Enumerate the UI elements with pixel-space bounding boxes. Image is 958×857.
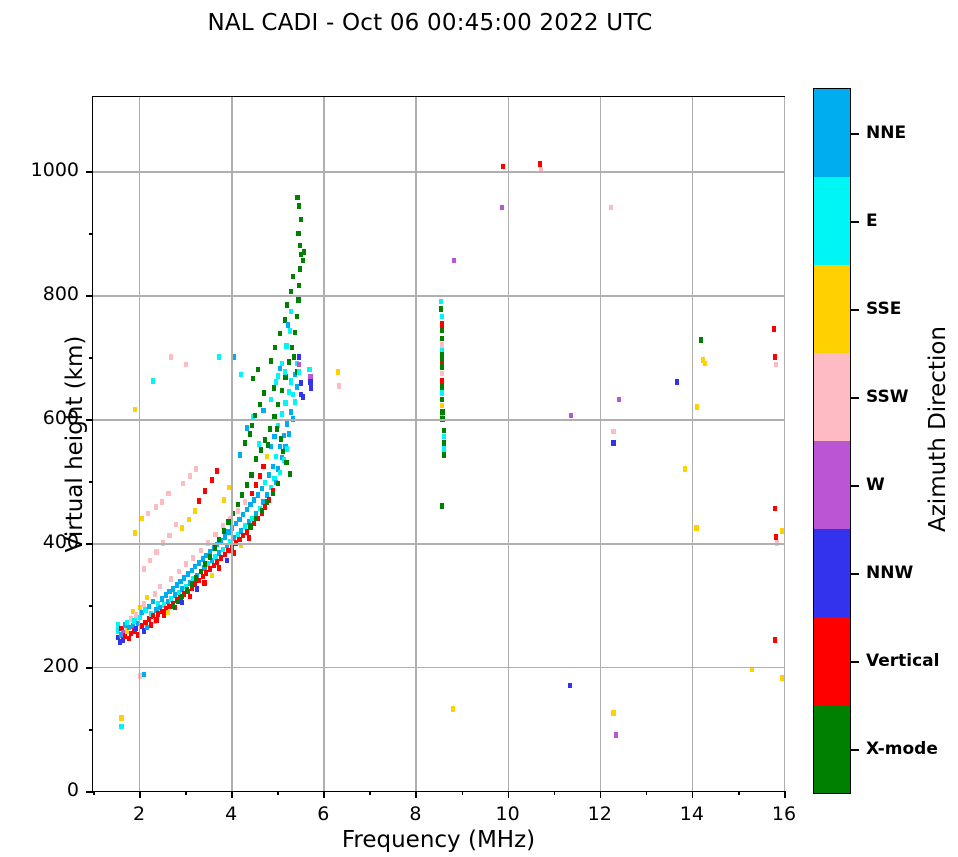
data-point (285, 446, 289, 452)
data-point (254, 516, 258, 522)
data-point (222, 528, 226, 534)
data-point (440, 503, 444, 509)
data-point (307, 367, 311, 373)
data-point (440, 390, 444, 396)
data-point (210, 477, 214, 483)
data-point (133, 407, 137, 413)
data-point (250, 423, 254, 429)
data-point (213, 545, 217, 551)
y-axis-tick (86, 543, 93, 545)
data-point (440, 314, 444, 320)
data-point (248, 431, 252, 437)
ionogram-figure: NAL CADI - Oct 06 00:45:00 2022 UTC Virt… (0, 0, 958, 857)
x-axis-tick (600, 791, 602, 798)
data-point (290, 345, 294, 351)
data-point (695, 404, 699, 410)
colorbar-label-nnw: NNW (866, 563, 913, 583)
y-axis-tick-label: 0 (0, 779, 79, 801)
data-point (271, 491, 275, 497)
data-point (265, 454, 269, 460)
data-point (292, 354, 296, 360)
data-point (272, 385, 276, 391)
data-point (286, 322, 290, 328)
data-point (166, 491, 170, 497)
x-axis-tick (231, 791, 233, 798)
data-point (215, 468, 219, 474)
data-point (538, 161, 542, 167)
colorbar-tick (850, 485, 859, 487)
data-point (272, 434, 276, 440)
data-point (252, 521, 256, 527)
gridline-horizontal (93, 171, 784, 172)
data-point (199, 569, 203, 575)
data-point (184, 561, 188, 567)
y-axis-tick (86, 791, 93, 793)
colorbar-tick (850, 573, 859, 575)
x-axis-label: Frequency (MHz) (93, 827, 784, 853)
gridline-vertical (415, 97, 416, 791)
data-point (694, 525, 698, 531)
x-axis-tick-label: 4 (201, 803, 261, 825)
data-point (240, 492, 244, 498)
colorbar-segment-nne (814, 89, 850, 177)
data-point (280, 411, 284, 417)
data-point (288, 328, 292, 334)
data-point (247, 535, 251, 541)
data-point (253, 413, 257, 419)
data-point (273, 345, 277, 351)
data-point (177, 569, 181, 575)
y-axis-minor-tick (89, 605, 93, 607)
data-point (267, 472, 271, 478)
data-point (256, 367, 260, 373)
colorbar-tick (850, 221, 859, 223)
data-point (261, 408, 265, 414)
data-point (280, 361, 284, 367)
data-point (675, 379, 679, 385)
data-point (297, 362, 301, 368)
x-axis-tick-label: 2 (109, 803, 169, 825)
x-axis-minor-tick (738, 791, 740, 795)
y-axis-minor-tick (89, 729, 93, 731)
data-point (301, 394, 305, 400)
data-point (276, 481, 280, 487)
data-point (154, 504, 158, 510)
gridline-vertical (323, 97, 324, 791)
data-point (299, 380, 303, 386)
data-point (291, 392, 295, 398)
data-point (440, 342, 444, 348)
data-point (336, 369, 340, 375)
data-point (169, 576, 173, 582)
data-point (289, 379, 293, 385)
colorbar-title: Azimuth Direction (925, 326, 951, 532)
data-point (269, 358, 273, 364)
colorbar-segment-e (814, 177, 850, 265)
y-axis-tick (86, 667, 93, 669)
gridline-horizontal (93, 419, 784, 420)
y-axis-tick-label: 1000 (0, 159, 79, 181)
gridline-vertical (231, 97, 232, 791)
data-point (188, 594, 192, 600)
data-point (611, 710, 615, 716)
colorbar-tick (850, 397, 859, 399)
data-point (289, 409, 293, 415)
data-point (226, 519, 230, 525)
x-axis-minor-tick (554, 791, 556, 795)
data-point (151, 378, 155, 384)
data-point (202, 580, 206, 586)
gridline-vertical (600, 97, 601, 791)
y-axis-tick (86, 171, 93, 173)
data-point (190, 581, 194, 587)
chart-title: NAL CADI - Oct 06 00:45:00 2022 UTC (0, 10, 860, 36)
data-point (167, 533, 171, 539)
gridline-vertical (784, 97, 785, 791)
colorbar-segment-sse (814, 265, 850, 353)
data-point (171, 604, 175, 610)
x-axis-tick (139, 791, 141, 798)
x-axis-minor-tick (369, 791, 371, 795)
y-axis-tick-label: 800 (0, 283, 79, 305)
data-point (308, 379, 312, 385)
data-point (442, 446, 446, 452)
data-point (151, 599, 155, 605)
data-point (287, 431, 291, 437)
data-point (439, 306, 443, 312)
data-point (773, 637, 777, 643)
data-point (283, 369, 287, 375)
x-axis-tick (692, 791, 694, 798)
data-point (299, 217, 303, 223)
data-point (296, 297, 300, 303)
data-point (293, 399, 297, 405)
y-axis-tick-label: 200 (0, 655, 79, 677)
data-point (119, 715, 123, 721)
colorbar-segment-w (814, 441, 850, 529)
data-point (614, 732, 618, 738)
data-point (276, 373, 280, 379)
data-point (133, 530, 137, 536)
data-point (440, 371, 444, 377)
data-point (452, 258, 456, 264)
data-point (239, 372, 243, 378)
data-point (147, 604, 151, 610)
data-point (259, 447, 263, 453)
colorbar-label-vertical: Vertical (866, 651, 939, 671)
data-point (252, 497, 256, 503)
data-point (297, 369, 301, 375)
data-point (774, 534, 778, 540)
data-point (249, 472, 253, 478)
x-axis-minor-tick (462, 791, 464, 795)
data-point (279, 436, 283, 442)
colorbar-tick (850, 749, 859, 751)
data-point (223, 534, 227, 540)
data-point (278, 366, 282, 372)
data-point (297, 283, 301, 289)
data-point (154, 549, 158, 555)
data-point (187, 517, 191, 523)
data-point (176, 599, 180, 605)
data-point (288, 471, 292, 477)
data-point (180, 594, 184, 600)
data-point (500, 205, 504, 211)
data-point (185, 587, 189, 593)
data-point (617, 397, 621, 403)
data-point (194, 466, 198, 472)
data-points-layer (93, 97, 784, 791)
data-point (238, 452, 242, 458)
data-point (296, 231, 300, 237)
data-point (153, 591, 157, 597)
data-point (703, 361, 707, 367)
data-point (154, 617, 158, 623)
data-point (142, 601, 146, 607)
data-point (254, 456, 258, 462)
data-point (287, 359, 291, 365)
data-point (236, 502, 240, 508)
data-point (217, 354, 221, 360)
data-point (283, 374, 287, 380)
x-axis-minor-tick (646, 791, 648, 795)
data-point (188, 473, 192, 479)
data-point (142, 672, 146, 678)
data-point (440, 397, 444, 403)
data-point (261, 464, 265, 470)
data-point (772, 326, 776, 332)
data-point (268, 426, 272, 432)
plot-area: Virtual height (km) Frequency (MHz) 2468… (92, 96, 785, 792)
gridline-horizontal (93, 543, 784, 544)
x-axis-tick-label: 12 (570, 803, 630, 825)
data-point (199, 548, 203, 554)
data-point (281, 449, 285, 455)
data-point (257, 441, 261, 447)
y-axis-minor-tick (89, 233, 93, 235)
colorbar-segment-nnw (814, 529, 850, 617)
data-point (169, 354, 173, 360)
colorbar-label-sse: SSE (866, 299, 901, 319)
data-point (442, 428, 446, 434)
data-point (284, 460, 288, 466)
colorbar-label-e: E (866, 211, 878, 231)
data-point (256, 492, 260, 498)
data-point (166, 610, 170, 616)
y-axis-label: Virtual height (km) (62, 336, 88, 553)
data-point (275, 426, 279, 432)
x-axis-tick (415, 791, 417, 798)
data-point (245, 507, 249, 513)
data-point (274, 454, 278, 460)
gridline-horizontal (93, 667, 784, 668)
gridline-vertical (139, 97, 140, 791)
data-point (119, 724, 123, 730)
data-point (263, 504, 267, 510)
data-point (181, 481, 185, 487)
gridline-horizontal (93, 295, 784, 296)
data-point (774, 362, 778, 368)
data-point (293, 330, 297, 336)
data-point (442, 452, 446, 458)
data-point (248, 523, 252, 529)
data-point (197, 498, 201, 504)
data-point (245, 482, 249, 488)
data-point (208, 554, 212, 560)
colorbar-label-nne: NNE (866, 123, 906, 143)
data-point (289, 289, 293, 295)
data-point (266, 442, 270, 448)
data-point (158, 584, 162, 590)
data-point (203, 561, 207, 567)
x-axis-tick (784, 791, 786, 798)
data-point (210, 573, 214, 579)
x-axis-tick-label: 16 (754, 803, 814, 825)
data-point (301, 258, 305, 264)
data-point (442, 434, 446, 440)
data-point (245, 425, 249, 431)
data-point (440, 352, 444, 358)
colorbar-segment-ssw (814, 353, 850, 441)
data-point (283, 400, 287, 406)
data-point (184, 362, 188, 368)
y-axis-minor-tick (89, 481, 93, 483)
y-axis-tick-label: 400 (0, 531, 79, 553)
data-point (265, 499, 269, 505)
data-point (251, 376, 255, 382)
x-axis-tick-label: 10 (478, 803, 538, 825)
data-point (683, 466, 687, 472)
data-point (699, 337, 703, 343)
x-axis-tick (323, 791, 325, 798)
y-axis-tick (86, 295, 93, 297)
colorbar-tick (850, 133, 859, 135)
data-point (295, 195, 299, 201)
data-point (203, 488, 207, 494)
data-point (225, 558, 229, 564)
data-point (142, 566, 146, 572)
data-point (222, 497, 226, 503)
data-point (285, 421, 289, 427)
data-point (241, 512, 245, 518)
y-axis-minor-tick (89, 357, 93, 359)
data-point (180, 600, 184, 606)
data-point (194, 575, 198, 581)
data-point (237, 517, 241, 523)
data-point (134, 626, 138, 632)
data-point (260, 486, 264, 492)
data-point (263, 480, 267, 486)
data-point (298, 266, 302, 272)
colorbar-tick (850, 309, 859, 311)
data-point (440, 384, 444, 390)
data-point (569, 413, 573, 419)
data-point (243, 499, 247, 505)
data-point (276, 402, 280, 408)
data-point (440, 378, 444, 384)
colorbar-label-ssw: SSW (866, 387, 908, 407)
data-point (236, 508, 240, 514)
data-point (609, 205, 613, 211)
data-point (278, 331, 282, 337)
x-axis-tick (508, 791, 510, 798)
data-point (297, 354, 301, 360)
data-point (289, 309, 293, 315)
data-point (243, 440, 247, 446)
data-point (248, 502, 252, 508)
data-point (195, 586, 199, 592)
data-point (271, 464, 275, 470)
y-axis-tick (86, 419, 93, 421)
data-point (298, 243, 302, 249)
x-axis-minor-tick (185, 791, 187, 795)
data-point (258, 402, 262, 408)
data-point (269, 397, 273, 403)
data-point (611, 440, 615, 446)
data-point (440, 364, 444, 370)
data-point (191, 555, 195, 561)
data-point (193, 508, 197, 514)
data-point (174, 522, 178, 528)
data-point (295, 384, 299, 390)
x-axis-minor-tick (277, 791, 279, 795)
data-point (440, 336, 444, 342)
data-point (285, 302, 289, 308)
data-point (278, 470, 282, 476)
y-axis-tick-label: 600 (0, 407, 79, 429)
data-point (250, 491, 254, 497)
data-point (262, 390, 266, 396)
data-point (160, 499, 164, 505)
colorbar-segment-vertical (814, 617, 850, 705)
colorbar-label-x-mode: X-mode (866, 739, 938, 759)
data-point (442, 440, 446, 446)
colorbar-segment-x-mode (814, 705, 850, 793)
data-point (773, 354, 777, 360)
data-point (337, 383, 341, 389)
colorbar-tick (850, 661, 859, 663)
data-point (297, 203, 301, 209)
data-point (773, 506, 777, 512)
gridline-vertical (508, 97, 509, 791)
data-point (145, 595, 149, 601)
data-point (501, 164, 505, 170)
data-point (451, 706, 455, 712)
data-point (217, 565, 221, 571)
data-point (284, 343, 288, 349)
data-point (439, 299, 443, 305)
x-axis-minor-tick (93, 791, 95, 795)
data-point (441, 409, 445, 415)
data-point (274, 379, 278, 385)
data-point (291, 274, 295, 280)
data-point (127, 636, 131, 642)
data-point (440, 327, 444, 333)
data-point (611, 429, 615, 435)
data-point (440, 321, 444, 327)
data-point (148, 558, 152, 564)
x-axis-tick-label: 6 (293, 803, 353, 825)
x-axis-tick-label: 14 (662, 803, 722, 825)
data-point (260, 508, 264, 514)
data-point (254, 482, 258, 488)
colorbar: NNEESSESSWWNNWVerticalX-mode (813, 88, 851, 794)
data-point (245, 529, 249, 535)
gridline-vertical (692, 97, 693, 791)
data-point (295, 314, 299, 320)
data-point (258, 473, 262, 479)
data-point (440, 403, 444, 409)
